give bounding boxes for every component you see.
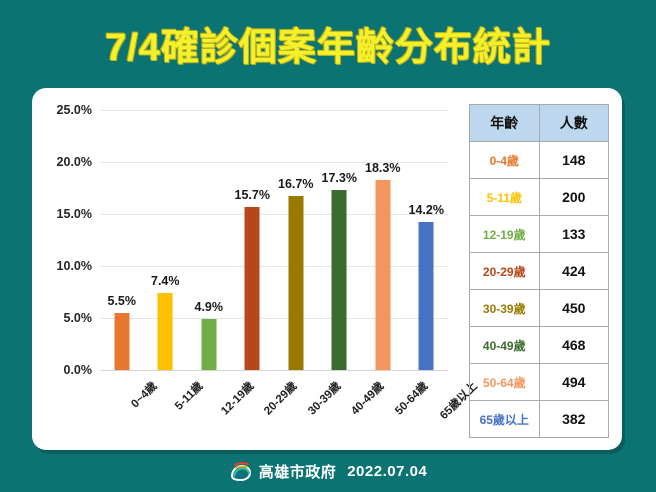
- header: 7/4確診個案年齡分布統計: [0, 0, 656, 86]
- table-cell-count: 133: [539, 216, 609, 253]
- bar-slot: 14.2%: [405, 110, 449, 370]
- table-row: 20-29歲424: [470, 253, 609, 290]
- y-axis-tick-label: 15.0%: [57, 207, 92, 221]
- y-axis-tick-label: 5.0%: [64, 311, 93, 325]
- bar-slot: 7.4%: [144, 110, 188, 370]
- x-axis-slot: 20-29歲: [231, 374, 275, 450]
- chart-bar[interactable]: [201, 319, 216, 370]
- table-row: 30-39歲450: [470, 290, 609, 327]
- bar-value-label: 7.4%: [151, 274, 180, 288]
- table-cell-count: 424: [539, 253, 609, 290]
- y-axis-tick-label: 0.0%: [64, 363, 93, 377]
- x-axis-slot: 30-39歲: [274, 374, 318, 450]
- footer-organization: 高雄市政府: [259, 461, 337, 482]
- chart-bar[interactable]: [288, 196, 303, 370]
- table-row: 5-11歲200: [470, 179, 609, 216]
- age-distribution-table: 年齡 人數 0-4歲1485-11歲20012-19歲13320-29歲4243…: [469, 104, 609, 438]
- y-axis-tick-label: 25.0%: [57, 103, 92, 117]
- chart-bars: 5.5%7.4%4.9%15.7%16.7%17.3%18.3%14.2%: [100, 110, 448, 370]
- bar-value-label: 17.3%: [322, 171, 357, 185]
- x-axis-slot: 5-11歲: [144, 374, 188, 450]
- bar-value-label: 5.5%: [108, 294, 137, 308]
- table-row: 40-49歲468: [470, 327, 609, 364]
- x-axis-slot: 50-64歲: [361, 374, 405, 450]
- table-header-row: 年齡 人數: [470, 105, 609, 142]
- chart-bar[interactable]: [419, 222, 434, 370]
- bar-slot: 4.9%: [187, 110, 231, 370]
- table-header-age: 年齡: [470, 105, 540, 142]
- table-cell-count: 200: [539, 179, 609, 216]
- bar-slot: 18.3%: [361, 110, 405, 370]
- bar-chart: 0.0%5.0%10.0%15.0%20.0%25.0% 5.5%7.4%4.9…: [32, 88, 462, 450]
- chart-bar[interactable]: [332, 190, 347, 370]
- bar-value-label: 16.7%: [278, 177, 313, 191]
- table-cell-age: 0-4歲: [470, 142, 540, 179]
- table-cell-age: 5-11歲: [470, 179, 540, 216]
- gridline: [100, 370, 448, 371]
- bar-value-label: 18.3%: [365, 161, 400, 175]
- content-card: 0.0%5.0%10.0%15.0%20.0%25.0% 5.5%7.4%4.9…: [32, 88, 622, 450]
- footer: 高雄市政府 2022.07.04: [0, 456, 656, 486]
- kaohsiung-city-government-logo-icon: [229, 461, 252, 482]
- table-row: 12-19歲133: [470, 216, 609, 253]
- bar-slot: 17.3%: [318, 110, 362, 370]
- footer-date: 2022.07.04: [347, 463, 427, 480]
- table-cell-age: 30-39歲: [470, 290, 540, 327]
- table-row: 65歲以上382: [470, 401, 609, 438]
- x-axis-slot: 65歲以上: [405, 374, 449, 450]
- bar-value-label: 4.9%: [195, 300, 224, 314]
- table-cell-count: 468: [539, 327, 609, 364]
- table-row: 0-4歲148: [470, 142, 609, 179]
- bar-slot: 5.5%: [100, 110, 144, 370]
- table-cell-age: 20-29歲: [470, 253, 540, 290]
- bar-value-label: 15.7%: [235, 188, 270, 202]
- chart-bar[interactable]: [245, 207, 260, 370]
- x-axis-slot: 40-49歲: [318, 374, 362, 450]
- x-axis-slot: 0~4歲: [100, 374, 144, 450]
- y-axis-tick-label: 10.0%: [57, 259, 92, 273]
- table-header-count: 人數: [539, 105, 609, 142]
- bar-slot: 16.7%: [274, 110, 318, 370]
- chart-bar[interactable]: [158, 293, 173, 370]
- y-axis-tick-label: 20.0%: [57, 155, 92, 169]
- table-cell-age: 12-19歲: [470, 216, 540, 253]
- chart-x-axis-labels: 0~4歲5-11歲12-19歲20-29歲30-39歲40-49歲50-64歲6…: [100, 374, 448, 450]
- table-cell-age: 50-64歲: [470, 364, 540, 401]
- table-row: 50-64歲494: [470, 364, 609, 401]
- table-cell-age: 40-49歲: [470, 327, 540, 364]
- chart-bar[interactable]: [375, 180, 390, 370]
- table-cell-count: 382: [539, 401, 609, 438]
- table-cell-count: 450: [539, 290, 609, 327]
- page-title: 7/4確診個案年齡分布統計: [105, 16, 551, 71]
- bar-slot: 15.7%: [231, 110, 275, 370]
- chart-plot-area: 0.0%5.0%10.0%15.0%20.0%25.0% 5.5%7.4%4.9…: [100, 110, 448, 370]
- x-axis-slot: 12-19歲: [187, 374, 231, 450]
- table-cell-age: 65歲以上: [470, 401, 540, 438]
- table-cell-count: 148: [539, 142, 609, 179]
- chart-bar[interactable]: [114, 313, 129, 370]
- table-cell-count: 494: [539, 364, 609, 401]
- bar-value-label: 14.2%: [409, 203, 444, 217]
